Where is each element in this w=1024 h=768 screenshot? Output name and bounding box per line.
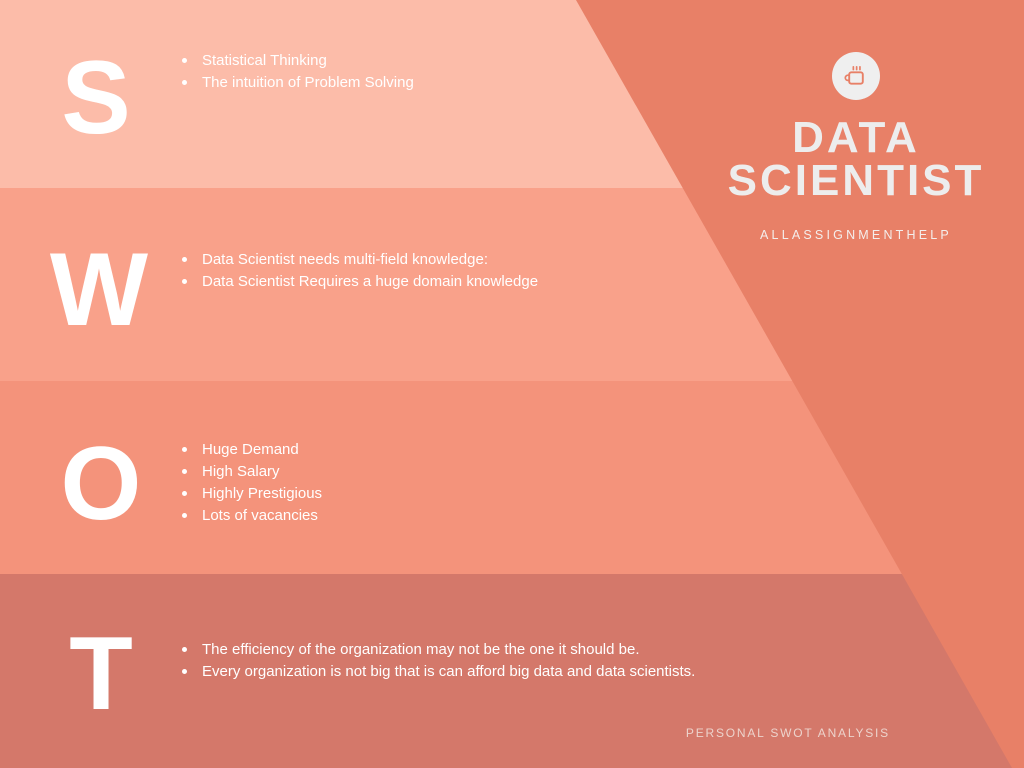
bullet-dot-icon xyxy=(182,257,187,262)
coffee-cup-icon xyxy=(832,52,880,100)
list-item-label: The intuition of Problem Solving xyxy=(202,74,414,91)
page-title-line-2: SCIENTIST xyxy=(660,159,1024,202)
list-item-label: Highly Prestigious xyxy=(202,485,322,502)
swot-list-weaknesses: Data Scientist needs multi-field knowled… xyxy=(182,249,582,293)
page-title: DATA SCIENTIST xyxy=(660,116,1024,202)
swot-letter-opportunities: O xyxy=(54,432,148,536)
bullet-dot-icon xyxy=(182,669,187,674)
swot-letter-weaknesses: W xyxy=(44,238,154,342)
bullet-dot-icon xyxy=(182,80,187,85)
list-item-label: High Salary xyxy=(202,463,280,480)
list-item-label: Lots of vacancies xyxy=(202,507,318,524)
list-item: The efficiency of the organization may n… xyxy=(182,639,722,661)
list-item-label: Data Scientist Requires a huge domain kn… xyxy=(202,273,538,290)
swot-letter-threats: T xyxy=(56,622,146,726)
list-item: Every organization is not big that is ca… xyxy=(182,661,722,683)
swot-letter-strengths: S xyxy=(50,46,142,150)
list-item: Data Scientist needs multi-field knowled… xyxy=(182,249,582,271)
brand-block: DATA SCIENTIST ALLASSIGNMENTHELP xyxy=(660,52,1024,242)
bullet-dot-icon xyxy=(182,513,187,518)
list-item-label: Statistical Thinking xyxy=(202,52,327,69)
brand-subtitle: ALLASSIGNMENTHELP xyxy=(660,228,1024,242)
bullet-dot-icon xyxy=(182,447,187,452)
list-item: Statistical Thinking xyxy=(182,50,562,72)
swot-list-strengths: Statistical Thinking The intuition of Pr… xyxy=(182,50,562,94)
list-item: The intuition of Problem Solving xyxy=(182,72,562,94)
swot-list-threats: The efficiency of the organization may n… xyxy=(182,639,722,683)
list-item: Huge Demand xyxy=(182,439,542,461)
bullet-dot-icon xyxy=(182,491,187,496)
bullet-dot-icon xyxy=(182,279,187,284)
swot-list-opportunities: Huge Demand High Salary Highly Prestigio… xyxy=(182,439,542,527)
page-title-line-1: DATA xyxy=(660,116,1024,159)
swot-infographic: S Statistical Thinking The intuition of … xyxy=(0,0,1024,768)
list-item-label: The efficiency of the organization may n… xyxy=(202,641,640,658)
list-item: Highly Prestigious xyxy=(182,483,542,505)
bullet-dot-icon xyxy=(182,647,187,652)
bullet-dot-icon xyxy=(182,58,187,63)
footer-label: PERSONAL SWOT ANALYSIS xyxy=(560,726,890,740)
list-item: Lots of vacancies xyxy=(182,505,542,527)
list-item: Data Scientist Requires a huge domain kn… xyxy=(182,271,582,293)
list-item-label: Huge Demand xyxy=(202,441,299,458)
list-item: High Salary xyxy=(182,461,542,483)
list-item-label: Every organization is not big that is ca… xyxy=(202,663,695,680)
bullet-dot-icon xyxy=(182,469,187,474)
list-item-label: Data Scientist needs multi-field knowled… xyxy=(202,251,488,268)
